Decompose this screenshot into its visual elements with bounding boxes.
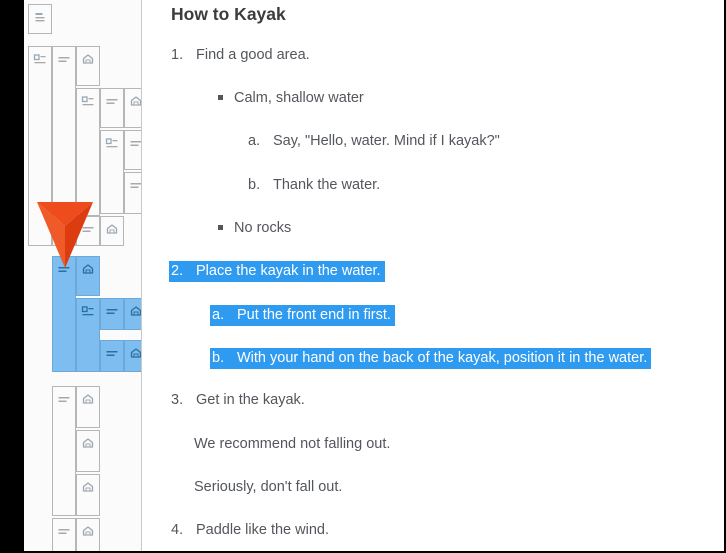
document-line[interactable]: We recommend not falling out. — [194, 435, 390, 454]
para-icon — [82, 394, 95, 405]
para-icon — [130, 348, 143, 359]
text-run: a.Say, "Hello, water. Mind if I kayak?" — [248, 133, 500, 149]
outline-node[interactable] — [100, 130, 124, 214]
frame-edge-left — [0, 0, 24, 553]
outline-node[interactable] — [124, 172, 142, 214]
list-icon — [82, 96, 95, 107]
outline-node[interactable] — [76, 88, 100, 216]
heading-icon — [34, 12, 47, 23]
outline-node[interactable] — [52, 256, 76, 372]
lines-icon — [58, 526, 71, 537]
lines-icon — [58, 394, 71, 405]
list-marker: 2. — [171, 262, 196, 281]
list-icon — [34, 54, 47, 65]
text-run: b.Thank the water. — [248, 177, 380, 193]
text-run: Calm, shallow water — [218, 90, 364, 106]
outline-node[interactable] — [100, 298, 124, 330]
selected-text-run: b.With your hand on the back of the kaya… — [210, 348, 651, 369]
outline-node[interactable] — [76, 256, 100, 296]
text-run: 4.Paddle like the wind. — [171, 522, 329, 538]
application-window: How to Kayak 1.Find a good area.Calm, sh… — [24, 0, 724, 551]
outline-node[interactable] — [28, 4, 52, 34]
para-icon — [106, 224, 119, 235]
outline-node[interactable] — [124, 298, 142, 330]
bullet-square-icon — [218, 225, 223, 230]
para-icon — [82, 264, 95, 275]
outline-node[interactable] — [76, 430, 100, 472]
document-line[interactable]: b.With your hand on the back of the kaya… — [210, 349, 651, 368]
bullet-square-icon — [218, 95, 223, 100]
line-text: Get in the kayak. — [196, 392, 305, 408]
list-icon — [82, 306, 95, 317]
para-icon — [82, 482, 95, 493]
outline-node[interactable] — [76, 386, 100, 428]
line-text: Paddle like the wind. — [196, 522, 329, 538]
outline-node[interactable] — [100, 216, 124, 246]
list-icon — [106, 138, 119, 149]
document-structure-panel[interactable] — [24, 0, 142, 551]
line-text: Thank the water. — [273, 177, 380, 193]
lines-icon — [58, 264, 71, 275]
line-text: No rocks — [234, 220, 291, 236]
selected-text-run: a.Put the front end in first. — [210, 305, 395, 326]
lines-icon — [106, 348, 119, 359]
lines-icon — [106, 306, 119, 317]
lines-icon — [58, 54, 71, 65]
list-marker: b. — [212, 349, 237, 368]
text-run: 1.Find a good area. — [171, 47, 310, 63]
outline-node[interactable] — [76, 474, 100, 516]
list-marker: 1. — [171, 46, 196, 65]
list-marker: b. — [248, 176, 273, 195]
line-text: Place the kayak in the water. — [196, 263, 381, 279]
list-marker: 3. — [171, 391, 196, 410]
document-content-pane[interactable]: How to Kayak 1.Find a good area.Calm, sh… — [142, 0, 724, 551]
outline-node[interactable] — [124, 340, 142, 372]
document-line[interactable]: No rocks — [218, 219, 291, 238]
outline-node[interactable] — [52, 386, 76, 516]
list-marker: a. — [248, 132, 273, 151]
line-text: Seriously, don't fall out. — [194, 479, 342, 495]
para-icon — [82, 438, 95, 449]
outline-node[interactable] — [76, 216, 100, 246]
lines-icon — [106, 96, 119, 107]
para-icon — [130, 306, 143, 317]
document-line[interactable]: b.Thank the water. — [248, 176, 380, 195]
document-line[interactable]: 1.Find a good area. — [171, 46, 310, 65]
outline-node[interactable] — [76, 46, 100, 86]
line-text: Say, "Hello, water. Mind if I kayak?" — [273, 133, 500, 149]
text-run: Seriously, don't fall out. — [194, 479, 342, 495]
document-line[interactable]: Calm, shallow water — [218, 89, 364, 108]
list-marker: a. — [212, 306, 237, 325]
page-title: How to Kayak — [171, 4, 286, 25]
selected-text-run: 2.Place the kayak in the water. — [169, 261, 385, 282]
para-icon — [82, 526, 95, 537]
line-text: Calm, shallow water — [234, 90, 364, 106]
line-text: Put the front end in first. — [237, 307, 391, 323]
outline-node[interactable] — [52, 46, 76, 246]
document-line[interactable]: 2.Place the kayak in the water. — [169, 262, 385, 281]
document-line[interactable]: Seriously, don't fall out. — [194, 478, 342, 497]
outline-node[interactable] — [28, 46, 52, 246]
line-text: With your hand on the back of the kayak,… — [237, 350, 647, 366]
outline-node[interactable] — [76, 518, 100, 551]
para-icon — [82, 54, 95, 65]
para-icon — [130, 96, 143, 107]
line-text: We recommend not falling out. — [194, 436, 390, 452]
line-text: Find a good area. — [196, 47, 310, 63]
list-marker: 4. — [171, 521, 196, 540]
document-line[interactable]: 4.Paddle like the wind. — [171, 521, 329, 540]
outline-node[interactable] — [52, 518, 76, 551]
text-run: We recommend not falling out. — [194, 436, 390, 452]
text-run: 3.Get in the kayak. — [171, 392, 305, 408]
outline-node[interactable] — [76, 298, 100, 372]
lines-icon — [82, 224, 95, 235]
text-run: No rocks — [218, 220, 291, 236]
lines-icon — [130, 138, 143, 149]
outline-node[interactable] — [124, 130, 142, 170]
document-line[interactable]: 3.Get in the kayak. — [171, 391, 305, 410]
outline-node[interactable] — [100, 340, 124, 372]
document-line[interactable]: a.Say, "Hello, water. Mind if I kayak?" — [248, 132, 500, 151]
document-line[interactable]: a.Put the front end in first. — [210, 306, 395, 325]
outline-node[interactable] — [124, 88, 142, 128]
lines-icon — [130, 180, 143, 191]
outline-node[interactable] — [100, 88, 124, 128]
